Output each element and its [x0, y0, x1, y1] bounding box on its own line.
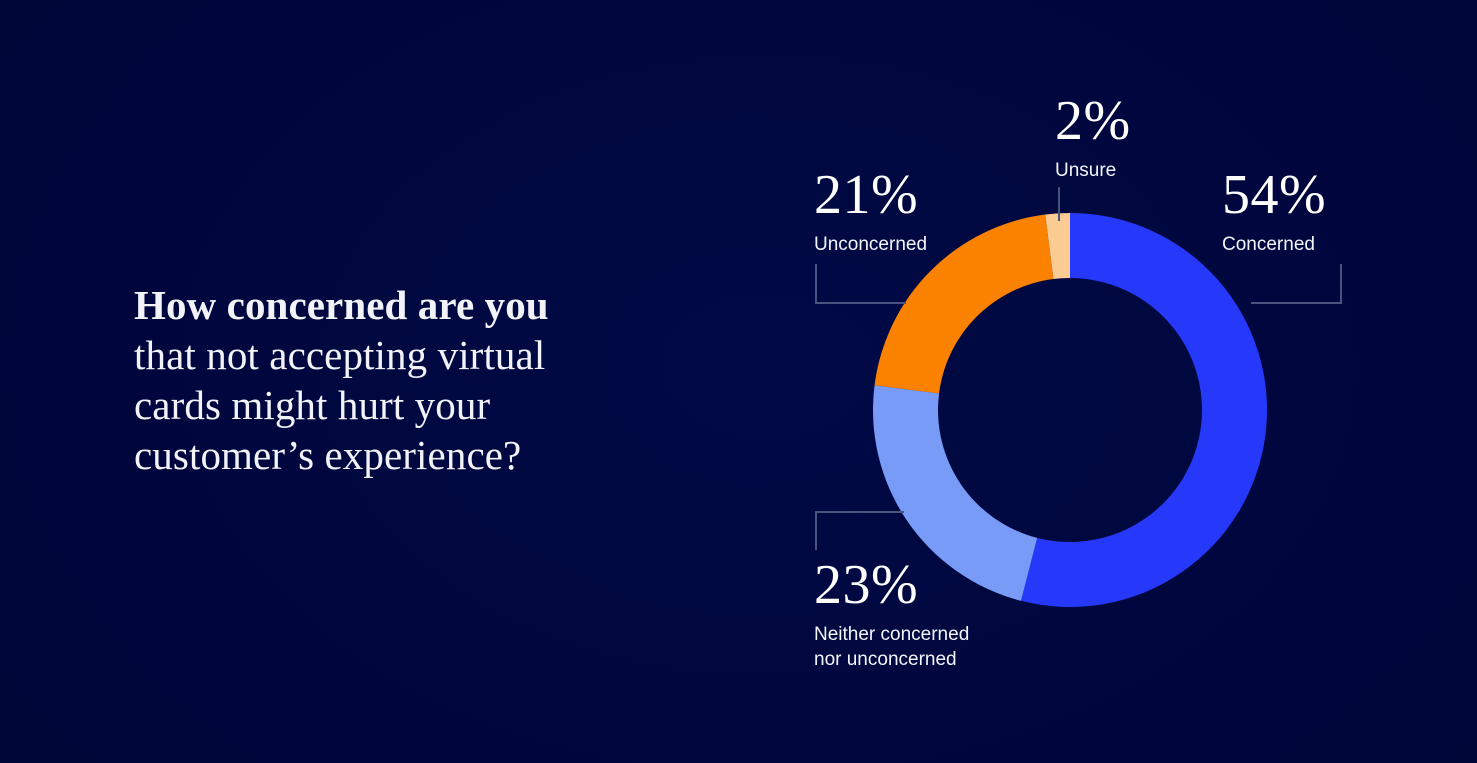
callout-unsure: 2% Unsure: [1055, 93, 1131, 183]
callout-neither: 23% Neither concerned nor unconcerned: [814, 557, 969, 672]
headline-line-1: How concerned are you: [134, 280, 674, 330]
donut-chart: [873, 213, 1267, 607]
callout-unsure-percent: 2%: [1055, 93, 1131, 149]
leader-line-unsure: [1058, 187, 1060, 221]
infographic-slide: How concerned are you that not accepting…: [0, 0, 1477, 763]
leader-line-concerned: [1251, 264, 1342, 304]
callout-neither-label-line-1: Neither concerned: [814, 624, 969, 645]
headline-line-4: customer’s experience?: [134, 430, 674, 480]
callout-concerned: 54% Concerned: [1222, 167, 1326, 257]
donut-chart-svg: [873, 213, 1267, 607]
callout-unconcerned-label: Unconcerned: [814, 232, 927, 257]
headline-line-2: that not accepting virtual: [134, 330, 674, 380]
page-title: How concerned are you that not accepting…: [134, 280, 674, 480]
callout-neither-label: Neither concerned nor unconcerned: [814, 622, 969, 672]
donut-slice-group: [873, 213, 1267, 607]
leader-line-unconcerned: [815, 264, 906, 304]
callout-concerned-percent: 54%: [1222, 167, 1326, 223]
callout-unconcerned: 21% Unconcerned: [814, 167, 927, 257]
callout-unconcerned-percent: 21%: [814, 167, 927, 223]
callout-neither-label-line-2: nor unconcerned: [814, 649, 957, 670]
callout-unsure-label: Unsure: [1055, 158, 1131, 183]
headline-line-3: cards might hurt your: [134, 380, 674, 430]
callout-concerned-label: Concerned: [1222, 232, 1326, 257]
leader-line-neither: [815, 511, 904, 550]
callout-neither-percent: 23%: [814, 557, 969, 613]
